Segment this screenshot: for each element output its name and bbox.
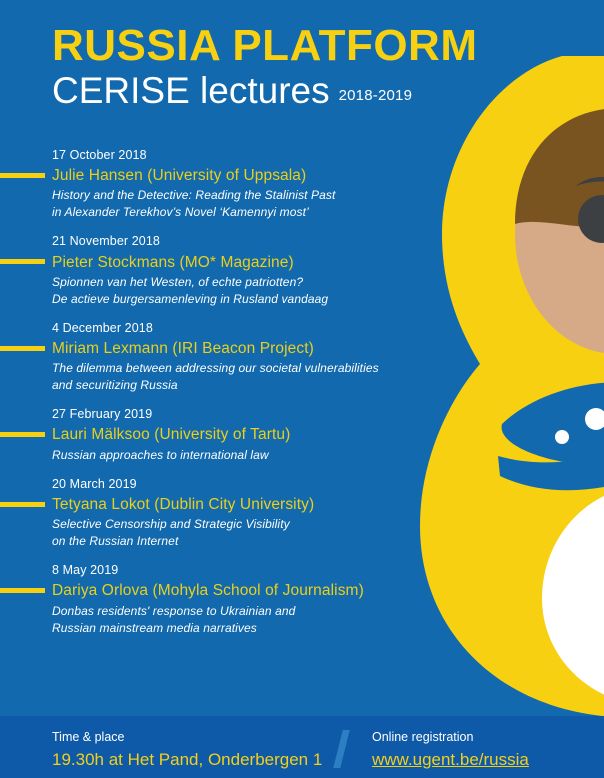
lecture-date: 27 February 2019 xyxy=(52,405,420,423)
registration-block: Online registration www.ugent.be/russia xyxy=(372,728,529,772)
divider-slash-icon xyxy=(333,730,349,768)
list-item: 17 October 2018 Julie Hansen (University… xyxy=(0,146,420,221)
lecture-date: 8 May 2019 xyxy=(52,561,420,579)
lecture-date: 17 October 2018 xyxy=(52,146,420,164)
list-item: 27 February 2019 Lauri Mälksoo (Universi… xyxy=(0,405,420,463)
poster-canvas: RUSSIA PLATFORM CERISE lectures 2018-201… xyxy=(0,0,604,778)
lecture-topic-line: Spionnen van het Westen, of echte patrio… xyxy=(52,274,420,291)
list-item: 8 May 2019 Dariya Orlova (Mohyla School … xyxy=(0,561,420,636)
lecture-speaker: Pieter Stockmans (MO* Magazine) xyxy=(52,251,420,274)
matryoshka-doll-illustration xyxy=(402,56,604,716)
page-subtitle: CERISE lectures xyxy=(52,72,330,109)
lecture-topic-line: Donbas residents' response to Ukrainian … xyxy=(52,603,420,620)
poster-footer: Time & place 19.30h at Het Pand, Onderbe… xyxy=(0,716,604,778)
registration-label: Online registration xyxy=(372,728,529,747)
lecture-speaker: Lauri Mälksoo (University of Tartu) xyxy=(52,423,420,446)
subtitle-row: CERISE lectures 2018-2019 xyxy=(52,72,482,109)
lecture-list: 17 October 2018 Julie Hansen (University… xyxy=(0,146,420,648)
bullet-dash-icon xyxy=(0,502,45,507)
lecture-speaker: Tetyana Lokot (Dublin City University) xyxy=(52,493,420,516)
lecture-date: 4 December 2018 xyxy=(52,319,420,337)
list-item: 21 November 2018 Pieter Stockmans (MO* M… xyxy=(0,232,420,307)
bullet-dash-icon xyxy=(0,588,45,593)
time-and-place-block: Time & place 19.30h at Het Pand, Onderbe… xyxy=(52,728,322,772)
page-title: RUSSIA PLATFORM xyxy=(52,24,482,68)
lecture-date: 21 November 2018 xyxy=(52,232,420,250)
lecture-topic-line: De actieve burgersamenleving in Rusland … xyxy=(52,291,420,308)
time-place-value: 19.30h at Het Pand, Onderbergen 1 xyxy=(52,747,322,773)
lecture-topic-line: Russian mainstream media narratives xyxy=(52,620,420,637)
bullet-dash-icon xyxy=(0,173,45,178)
bullet-dash-icon xyxy=(0,346,45,351)
lecture-speaker: Miriam Lexmann (IRI Beacon Project) xyxy=(52,337,420,360)
bullet-dash-icon xyxy=(0,432,45,437)
lecture-topic-line: and securitizing Russia xyxy=(52,377,420,394)
time-place-label: Time & place xyxy=(52,728,322,747)
lecture-topic-line: in Alexander Terekhov’s Novel ‘Kamennyi … xyxy=(52,204,420,221)
lecture-topic-line: Russian approaches to international law xyxy=(52,447,420,464)
lecture-topic-line: The dilemma between addressing our socie… xyxy=(52,360,420,377)
lecture-topic-line: Selective Censorship and Strategic Visib… xyxy=(52,516,420,533)
lecture-topic-line: History and the Detective: Reading the S… xyxy=(52,187,420,204)
poster-header: RUSSIA PLATFORM CERISE lectures 2018-201… xyxy=(52,24,482,109)
registration-link[interactable]: www.ugent.be/russia xyxy=(372,747,529,773)
list-item: 20 March 2019 Tetyana Lokot (Dublin City… xyxy=(0,475,420,550)
lecture-speaker: Dariya Orlova (Mohyla School of Journali… xyxy=(52,579,420,602)
lecture-date: 20 March 2019 xyxy=(52,475,420,493)
list-item: 4 December 2018 Miriam Lexmann (IRI Beac… xyxy=(0,319,420,394)
lecture-speaker: Julie Hansen (University of Uppsala) xyxy=(52,164,420,187)
lecture-topic-line: on the Russian Internet xyxy=(52,533,420,550)
academic-year-badge: 2018-2019 xyxy=(339,87,413,104)
bullet-dash-icon xyxy=(0,259,45,264)
